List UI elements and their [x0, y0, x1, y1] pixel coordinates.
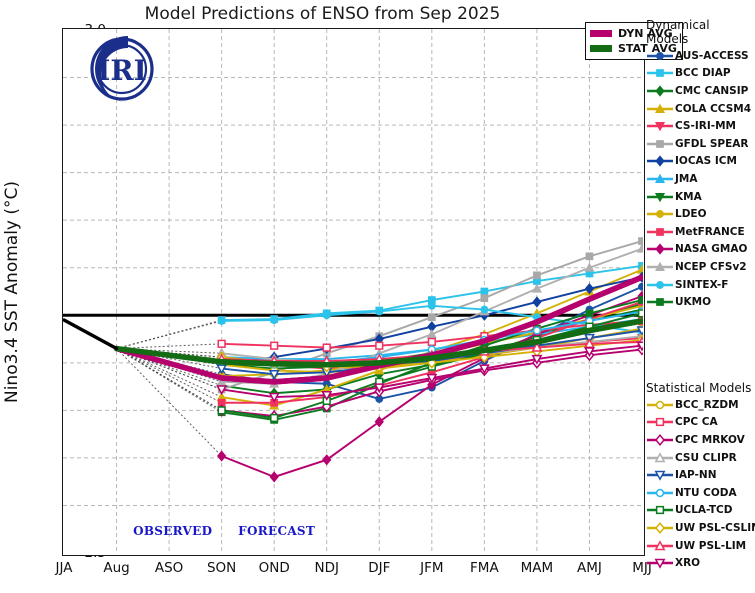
- chart-title: Model Predictions of ENSO from Sep 2025: [0, 4, 645, 24]
- legend-label-xro: XRO: [675, 557, 700, 569]
- legend-item-aus-access[interactable]: AUS-ACCESS: [645, 47, 755, 65]
- legend-marker-cola-ccsm4: [645, 101, 675, 117]
- legend-item-uw-psl-lim[interactable]: UW PSL-LIM: [645, 537, 755, 555]
- iri-logo: IRI: [66, 30, 176, 108]
- x-tick-son: SON: [207, 560, 236, 576]
- legend-marker-bcc-rzdm: [645, 397, 675, 413]
- legend-marker-cpc-mrkov: [645, 432, 675, 448]
- enso-forecast-chart: Model Predictions of ENSO from Sep 2025 …: [0, 0, 755, 593]
- x-tick-jja: JJA: [56, 560, 73, 576]
- legend-item-metfrance[interactable]: MetFRANCE: [645, 223, 755, 241]
- statistical-legend-items: BCC_RZDMCPC CACPC MRKOVCSU CLIPRIAP-NNNT…: [645, 396, 755, 572]
- legend-item-csu-clipr[interactable]: CSU CLIPR: [645, 449, 755, 467]
- legend-item-cmc-cansip[interactable]: CMC CANSIP: [645, 82, 755, 100]
- legend-label-bcc-diap: BCC DIAP: [675, 67, 731, 79]
- legend-label-ucla-tcd: UCLA-TCD: [675, 504, 732, 516]
- legend-label-kma: KMA: [675, 191, 702, 203]
- x-tick-ndj: NDJ: [314, 560, 338, 576]
- legend-marker-ukmo: [645, 294, 675, 310]
- legend-item-ldeo[interactable]: LDEO: [645, 205, 755, 223]
- avg-legend-swatch-1: [590, 45, 612, 52]
- legend-marker-aus-access: [645, 48, 675, 64]
- legend-label-sintex-f: SINTEX-F: [675, 279, 728, 291]
- legend-label-uw-psl-lim: UW PSL-LIM: [675, 540, 746, 552]
- legend-label-ukmo: UKMO: [675, 296, 711, 308]
- x-tick-aso: ASO: [155, 560, 183, 576]
- legend-label-cmc-cansip: CMC CANSIP: [675, 85, 748, 97]
- y-axis-label-wrap: Nino3.4 SST Anomaly (°C): [18, 28, 20, 556]
- x-tick-jfm: JFM: [420, 560, 443, 576]
- x-tick-ond: OND: [259, 560, 290, 576]
- legend-label-ldeo: LDEO: [675, 208, 707, 220]
- legend-marker-ncep-cfsv2: [645, 259, 675, 275]
- x-tick-amj: AMJ: [577, 560, 602, 576]
- legend-marker-xro: [645, 555, 675, 571]
- legend-marker-sintex-f: [645, 277, 675, 293]
- statistical-models-legend: Statistical Models BCC_RZDMCPC CACPC MRK…: [645, 381, 755, 572]
- legend-item-sintex-f[interactable]: SINTEX-F: [645, 276, 755, 294]
- legend-label-uw-psl-cslim: UW PSL-CSLIM: [675, 522, 755, 534]
- dynamical-legend-items: AUS-ACCESSBCC DIAPCMC CANSIPCOLA CCSM4CS…: [645, 47, 755, 311]
- legend-label-cola-ccsm4: COLA CCSM4: [675, 103, 751, 115]
- legend-marker-csu-clipr: [645, 450, 675, 466]
- avg-legend-swatch-0: [590, 30, 612, 37]
- legend-item-kma[interactable]: KMA: [645, 188, 755, 206]
- x-tick-aug: Aug: [103, 560, 129, 576]
- legend-marker-uw-psl-cslim: [645, 520, 675, 536]
- iri-logo-text: IRI: [97, 54, 146, 87]
- legend-marker-gfdl-spear: [645, 136, 675, 152]
- legend-label-jma: JMA: [675, 173, 697, 185]
- legend-item-cpc-ca[interactable]: CPC CA: [645, 414, 755, 432]
- legend-item-ucla-tcd[interactable]: UCLA-TCD: [645, 502, 755, 520]
- legend-item-iap-nn[interactable]: IAP-NN: [645, 466, 755, 484]
- legend-marker-ucla-tcd: [645, 502, 675, 518]
- legend-label-nasa-gmao: NASA GMAO: [675, 243, 747, 255]
- x-tick-fma: FMA: [470, 560, 499, 576]
- annotation-observed: OBSERVED: [133, 524, 212, 538]
- legend-label-iocas-icm: IOCAS ICM: [675, 155, 737, 167]
- legend-marker-cpc-ca: [645, 414, 675, 430]
- legend-item-ukmo[interactable]: UKMO: [645, 293, 755, 311]
- legend-item-cola-ccsm4[interactable]: COLA CCSM4: [645, 100, 755, 118]
- legend-item-bcc-diap[interactable]: BCC DIAP: [645, 65, 755, 83]
- legend-label-csu-clipr: CSU CLIPR: [675, 452, 737, 464]
- legend-item-ntu-coda[interactable]: NTU CODA: [645, 484, 755, 502]
- legend-item-cpc-mrkov[interactable]: CPC MRKOV: [645, 431, 755, 449]
- legend-item-nasa-gmao[interactable]: NASA GMAO: [645, 241, 755, 259]
- legend-label-gfdl-spear: GFDL SPEAR: [675, 138, 749, 150]
- legend-label-cs-iri-mm: CS-IRI-MM: [675, 120, 736, 132]
- legend-label-ntu-coda: NTU CODA: [675, 487, 737, 499]
- legend-label-cpc-mrkov: CPC MRKOV: [675, 434, 745, 446]
- legend-marker-kma: [645, 189, 675, 205]
- statistical-legend-heading: Statistical Models: [645, 381, 755, 395]
- legend-marker-cs-iri-mm: [645, 118, 675, 134]
- dynamical-legend-heading: Dynamical Models: [645, 18, 755, 46]
- legend-item-uw-psl-cslim[interactable]: UW PSL-CSLIM: [645, 519, 755, 537]
- y-axis-label: Nino3.4 SST Anomaly (°C): [2, 181, 22, 403]
- legend-label-bcc-rzdm: BCC_RZDM: [675, 399, 739, 411]
- legend-marker-ntu-coda: [645, 485, 675, 501]
- legend-item-xro[interactable]: XRO: [645, 554, 755, 572]
- legend-marker-iocas-icm: [645, 153, 675, 169]
- legend-marker-jma: [645, 171, 675, 187]
- dynamical-models-legend: Dynamical Models AUS-ACCESSBCC DIAPCMC C…: [645, 18, 755, 311]
- legend-item-cs-iri-mm[interactable]: CS-IRI-MM: [645, 117, 755, 135]
- legend-item-bcc-rzdm[interactable]: BCC_RZDM: [645, 396, 755, 414]
- legend-label-ncep-cfsv2: NCEP CFSv2: [675, 261, 747, 273]
- legend-item-ncep-cfsv2[interactable]: NCEP CFSv2: [645, 258, 755, 276]
- legend-item-iocas-icm[interactable]: IOCAS ICM: [645, 153, 755, 171]
- legend-marker-bcc-diap: [645, 65, 675, 81]
- legend-label-aus-access: AUS-ACCESS: [675, 50, 749, 62]
- legend-marker-nasa-gmao: [645, 241, 675, 257]
- legend-marker-metfrance: [645, 224, 675, 240]
- legend-marker-ldeo: [645, 206, 675, 222]
- x-tick-mam: MAM: [521, 560, 554, 576]
- legend-item-jma[interactable]: JMA: [645, 170, 755, 188]
- legend-marker-uw-psl-lim: [645, 538, 675, 554]
- annotation-forecast: FORECAST: [238, 524, 315, 538]
- legend-label-cpc-ca: CPC CA: [675, 416, 718, 428]
- legend-label-metfrance: MetFRANCE: [675, 226, 745, 238]
- legend-label-iap-nn: IAP-NN: [675, 469, 716, 481]
- x-tick-djf: DJF: [368, 560, 390, 576]
- legend-item-gfdl-spear[interactable]: GFDL SPEAR: [645, 135, 755, 153]
- legend-marker-cmc-cansip: [645, 83, 675, 99]
- legend-marker-iap-nn: [645, 467, 675, 483]
